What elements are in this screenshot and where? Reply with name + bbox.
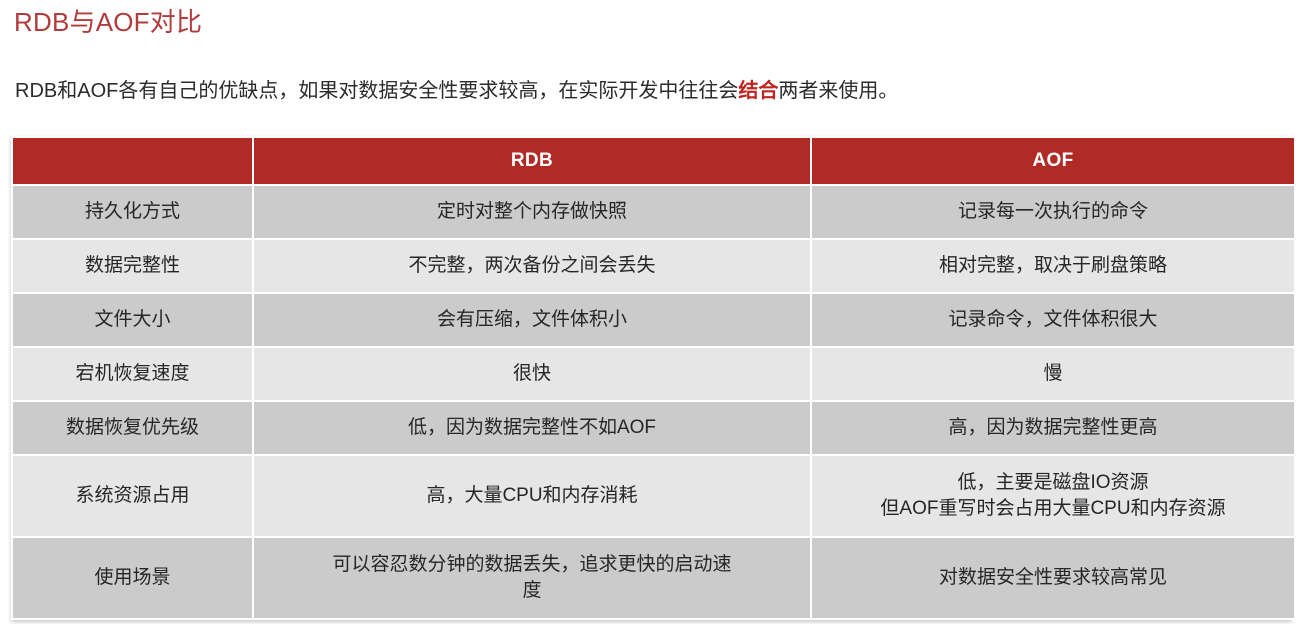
- table-row: 数据完整性 不完整，两次备份之间会丢失 相对完整，取决于刷盘策略: [13, 240, 1294, 292]
- cell-lines: 记录每一次执行的命令: [820, 199, 1286, 225]
- table-head: RDB AOF: [13, 138, 1294, 184]
- cell-line: 慢: [820, 361, 1286, 387]
- row-value-rdb: 不完整，两次备份之间会丢失: [254, 240, 810, 292]
- cell-lines: 可以容忍数分钟的数据丢失，追求更快的启动速 度: [262, 552, 802, 604]
- cell-lines: 低，因为数据完整性不如AOF: [262, 415, 802, 441]
- row-value-rdb: 很快: [254, 348, 810, 400]
- cell-lines: 高，大量CPU和内存消耗: [262, 483, 802, 509]
- row-label: 数据恢复优先级: [13, 402, 252, 454]
- row-label: 持久化方式: [13, 186, 252, 238]
- cell-line: 相对完整，取决于刷盘策略: [820, 253, 1286, 279]
- row-value-aof: 记录每一次执行的命令: [812, 186, 1294, 238]
- cell-line: 不完整，两次备份之间会丢失: [262, 253, 802, 279]
- cell-line: 高，因为数据完整性更高: [820, 415, 1286, 441]
- row-label: 系统资源占用: [13, 456, 252, 536]
- table-header-rdb: RDB: [254, 138, 810, 184]
- cell-line: 高，大量CPU和内存消耗: [262, 483, 802, 509]
- row-label: 数据完整性: [13, 240, 252, 292]
- cell-line: 低，主要是磁盘IO资源: [820, 470, 1286, 496]
- cell-line: 定时对整个内存做快照: [262, 199, 802, 225]
- comparison-table: RDB AOF 持久化方式 定时对整个内存做快照 记录每一次执行的命令: [11, 136, 1296, 620]
- cell-line: 度: [262, 578, 802, 604]
- cell-line: 记录每一次执行的命令: [820, 199, 1286, 225]
- row-value-rdb: 会有压缩，文件体积小: [254, 294, 810, 346]
- row-value-aof: 相对完整，取决于刷盘策略: [812, 240, 1294, 292]
- table-header-corner: [13, 138, 252, 184]
- row-value-aof: 对数据安全性要求较高常见: [812, 538, 1294, 618]
- table-row: 数据恢复优先级 低，因为数据完整性不如AOF 高，因为数据完整性更高: [13, 402, 1294, 454]
- table-row: 文件大小 会有压缩，文件体积小 记录命令，文件体积很大: [13, 294, 1294, 346]
- table-row: 宕机恢复速度 很快 慢: [13, 348, 1294, 400]
- cell-lines: 会有压缩，文件体积小: [262, 307, 802, 333]
- cell-lines: 相对完整，取决于刷盘策略: [820, 253, 1286, 279]
- table-row: 系统资源占用 高，大量CPU和内存消耗 低，主要是磁盘IO资源 但AOF重写时会…: [13, 456, 1294, 536]
- table-row: 使用场景 可以容忍数分钟的数据丢失，追求更快的启动速 度 对数据安全性要求较高常…: [13, 538, 1294, 618]
- cell-line: 可以容忍数分钟的数据丢失，追求更快的启动速: [262, 552, 802, 578]
- row-label: 文件大小: [13, 294, 252, 346]
- comparison-table-container: RDB AOF 持久化方式 定时对整个内存做快照 记录每一次执行的命令: [11, 136, 1292, 620]
- intro-highlight-word: 结合: [738, 80, 778, 102]
- cell-line: 很快: [262, 361, 802, 387]
- cell-lines: 不完整，两次备份之间会丢失: [262, 253, 802, 279]
- table-row: 持久化方式 定时对整个内存做快照 记录每一次执行的命令: [13, 186, 1294, 238]
- cell-line: 会有压缩，文件体积小: [262, 307, 802, 333]
- row-label: 使用场景: [13, 538, 252, 618]
- cell-lines: 高，因为数据完整性更高: [820, 415, 1286, 441]
- cell-line: 对数据安全性要求较高常见: [820, 565, 1286, 591]
- cell-lines: 很快: [262, 361, 802, 387]
- row-value-aof: 慢: [812, 348, 1294, 400]
- cell-line: 记录命令，文件体积很大: [820, 307, 1286, 333]
- cell-lines: 定时对整个内存做快照: [262, 199, 802, 225]
- table-body: 持久化方式 定时对整个内存做快照 记录每一次执行的命令 数据完整性: [13, 186, 1294, 618]
- row-label: 宕机恢复速度: [13, 348, 252, 400]
- row-value-aof: 低，主要是磁盘IO资源 但AOF重写时会占用大量CPU和内存资源: [812, 456, 1294, 536]
- table-header-aof: AOF: [812, 138, 1294, 184]
- intro-text-before: RDB和AOF各有自己的优缺点，如果对数据安全性要求较高，在实际开发中往往会: [15, 80, 738, 102]
- row-value-rdb: 低，因为数据完整性不如AOF: [254, 402, 810, 454]
- row-value-aof: 记录命令，文件体积很大: [812, 294, 1294, 346]
- cell-lines: 对数据安全性要求较高常见: [820, 565, 1286, 591]
- cell-lines: 记录命令，文件体积很大: [820, 307, 1286, 333]
- cell-line: 但AOF重写时会占用大量CPU和内存资源: [820, 496, 1286, 522]
- page-title: RDB与AOF对比: [14, 4, 202, 40]
- intro-text-after: 两者来使用。: [778, 80, 898, 102]
- table-header-row: RDB AOF: [13, 138, 1294, 184]
- cell-lines: 低，主要是磁盘IO资源 但AOF重写时会占用大量CPU和内存资源: [820, 470, 1286, 522]
- row-value-rdb: 可以容忍数分钟的数据丢失，追求更快的启动速 度: [254, 538, 810, 618]
- cell-line: 低，因为数据完整性不如AOF: [262, 415, 802, 441]
- cell-lines: 慢: [820, 361, 1286, 387]
- intro-paragraph: RDB和AOF各有自己的优缺点，如果对数据安全性要求较高，在实际开发中往往会结合…: [15, 76, 898, 106]
- row-value-rdb: 高，大量CPU和内存消耗: [254, 456, 810, 536]
- row-value-aof: 高，因为数据完整性更高: [812, 402, 1294, 454]
- row-value-rdb: 定时对整个内存做快照: [254, 186, 810, 238]
- slide-page: RDB与AOF对比 RDB和AOF各有自己的优缺点，如果对数据安全性要求较高，在…: [0, 0, 1304, 624]
